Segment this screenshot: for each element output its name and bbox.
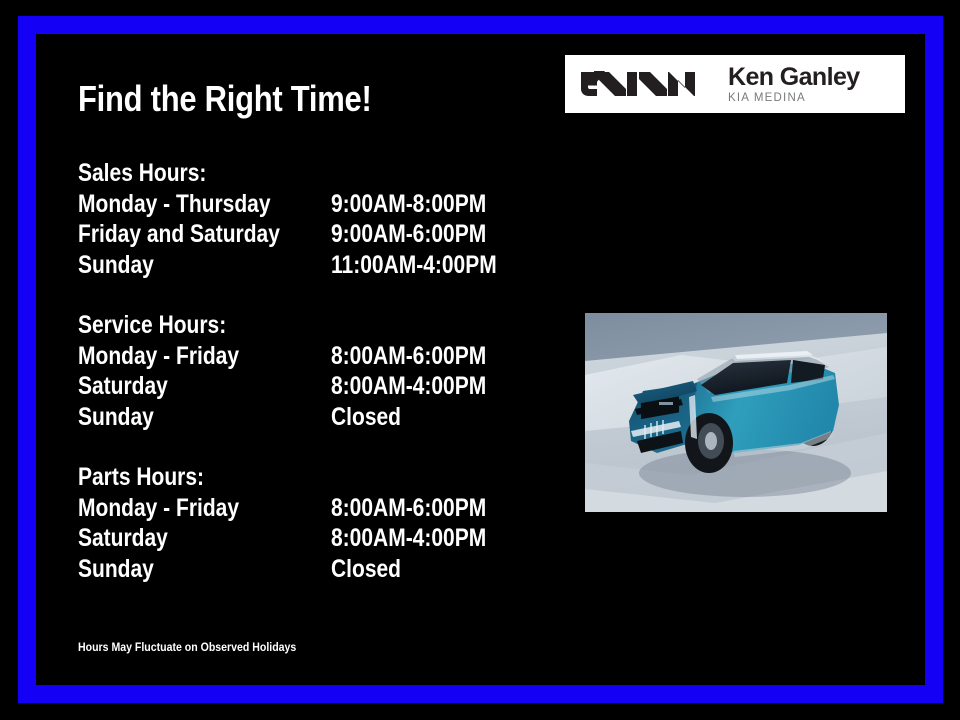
- dealer-location: KIA MEDINA: [728, 91, 860, 105]
- kia-ev9-suv-photo: [585, 313, 887, 512]
- time-value: 9:00AM-6:00PM: [331, 219, 486, 250]
- day-label: Monday - Friday: [78, 341, 239, 372]
- time-value: 8:00AM-6:00PM: [331, 493, 486, 524]
- kia-logo-icon: [579, 69, 697, 99]
- parts-hours-block: Parts Hours: Monday - Friday 8:00AM-6:00…: [78, 462, 538, 584]
- time-value: 8:00AM-4:00PM: [331, 523, 486, 554]
- table-row: Monday - Friday 8:00AM-6:00PM: [78, 493, 538, 524]
- time-value: 11:00AM-4:00PM: [331, 250, 497, 281]
- page-title: Find the Right Time!: [78, 78, 372, 120]
- logo-wordmark: Ken Ganley KIA MEDINA: [728, 64, 860, 105]
- day-label: Sunday: [78, 402, 154, 433]
- table-row: Monday - Friday 8:00AM-6:00PM: [78, 341, 538, 372]
- holiday-disclaimer: Hours May Fluctuate on Observed Holidays: [78, 640, 296, 654]
- sales-hours-heading: Sales Hours:: [78, 158, 464, 189]
- table-row: Sunday Closed: [78, 402, 538, 433]
- day-label: Sunday: [78, 554, 154, 585]
- table-row: Friday and Saturday 9:00AM-6:00PM: [78, 219, 538, 250]
- parts-hours-heading: Parts Hours:: [78, 462, 464, 493]
- sales-hours-block: Sales Hours: Monday - Thursday 9:00AM-8:…: [78, 158, 538, 280]
- time-value: Closed: [331, 402, 401, 433]
- table-row: Sunday Closed: [78, 554, 538, 585]
- table-row: Saturday 8:00AM-4:00PM: [78, 371, 538, 402]
- day-label: Monday - Thursday: [78, 189, 271, 220]
- day-label: Monday - Friday: [78, 493, 239, 524]
- table-row: Monday - Thursday 9:00AM-8:00PM: [78, 189, 538, 220]
- dealer-logo: Ken Ganley KIA MEDINA: [565, 55, 905, 113]
- day-label: Friday and Saturday: [78, 219, 280, 250]
- day-label: Saturday: [78, 523, 168, 554]
- day-label: Sunday: [78, 250, 154, 281]
- time-value: 9:00AM-8:00PM: [331, 189, 486, 220]
- day-label: Saturday: [78, 371, 168, 402]
- service-hours-heading: Service Hours:: [78, 310, 464, 341]
- dealer-name: Ken Ganley: [728, 64, 860, 90]
- time-value: Closed: [331, 554, 401, 585]
- time-value: 8:00AM-6:00PM: [331, 341, 486, 372]
- slide-canvas: Find the Right Time! Sales Hours: Monday…: [0, 0, 960, 720]
- time-value: 8:00AM-4:00PM: [331, 371, 486, 402]
- service-hours-block: Service Hours: Monday - Friday 8:00AM-6:…: [78, 310, 538, 432]
- table-row: Sunday 11:00AM-4:00PM: [78, 250, 538, 281]
- table-row: Saturday 8:00AM-4:00PM: [78, 523, 538, 554]
